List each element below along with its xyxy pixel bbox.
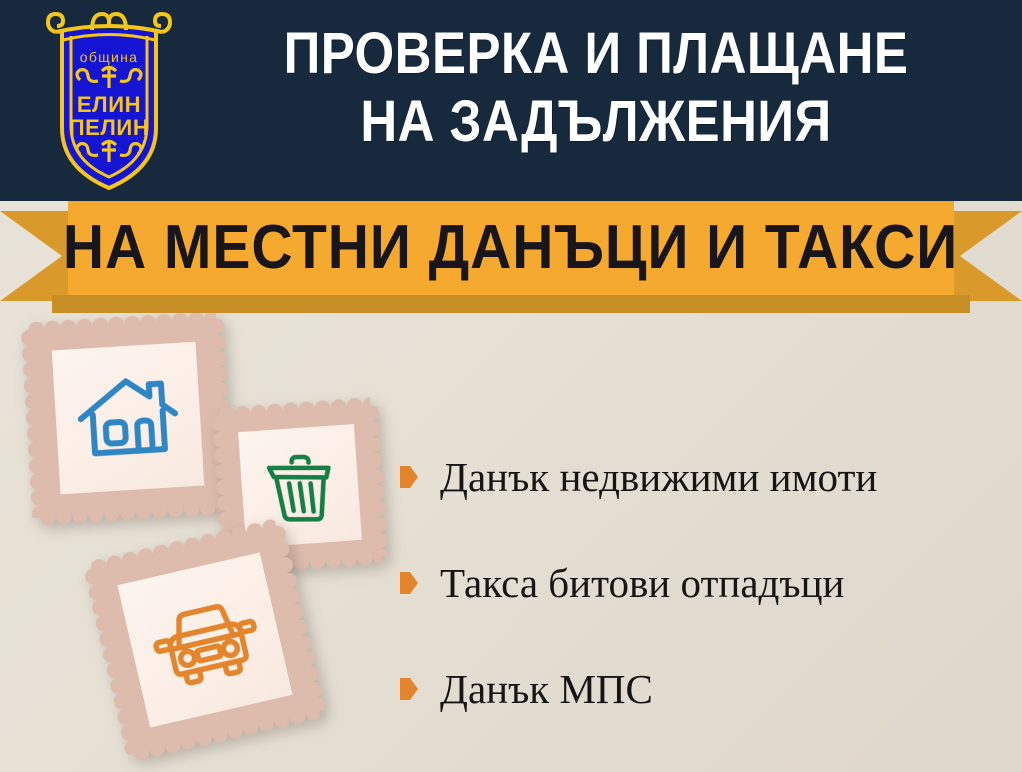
ribbon-panel: НА МЕСТНИ ДАНЪЦИ И ТАКСИ	[68, 201, 954, 295]
list-item[interactable]: Данък недвижими имоти	[400, 424, 1010, 530]
car-front-icon	[138, 573, 272, 707]
page-title-line-1: ПРОВЕРКА И ПЛАЩАНЕ	[235, 20, 957, 88]
stamp-perforation-right	[363, 404, 390, 557]
list-item-label: Такса битови отпадъци	[440, 560, 844, 606]
tax-type-list: Данък недвижими имоти Такса битови отпад…	[400, 424, 1010, 742]
stamp-card-house	[28, 318, 227, 517]
svg-text:ПЕЛИН: ПЕЛИН	[69, 115, 150, 140]
arrow-bullet-icon	[400, 572, 418, 594]
subtitle-ribbon: НА МЕСТНИ ДАНЪЦИ И ТАКСИ	[0, 201, 1022, 311]
coat-of-arms: община ЕЛИН ПЕЛИН	[44, 8, 174, 193]
house-icon	[69, 359, 188, 478]
list-item-label: Данък МПС	[440, 666, 653, 712]
page-title-line-2: НА ЗАДЪЛЖЕНИЯ	[235, 88, 957, 156]
svg-text:община: община	[80, 49, 138, 65]
ribbon-shadow-strip	[52, 295, 970, 313]
arrow-bullet-icon	[400, 466, 418, 488]
page-title: ПРОВЕРКА И ПЛАЩАНЕ НА ЗАДЪЛЖЕНИЯ	[235, 20, 957, 156]
list-item[interactable]: Данък МПС	[400, 636, 1010, 742]
stamp-face-car	[117, 552, 292, 727]
ribbon-label: НА МЕСТНИ ДАНЪЦИ И ТАКСИ	[63, 217, 958, 279]
stamp-perforation-left	[20, 329, 47, 518]
arrow-bullet-icon	[400, 678, 418, 700]
svg-text:ЕЛИН: ЕЛИН	[77, 92, 141, 117]
header-banner: община ЕЛИН ПЕЛИН ПРОВЕРКА И ПЛАЩАНЕ НА …	[0, 0, 1022, 201]
list-item[interactable]: Такса битови отпадъци	[400, 530, 1010, 636]
stamp-card-car	[91, 526, 319, 754]
trash-bin-icon	[254, 440, 346, 532]
stamp-face-house	[52, 342, 205, 495]
list-item-label: Данък недвижими имоти	[440, 454, 877, 500]
